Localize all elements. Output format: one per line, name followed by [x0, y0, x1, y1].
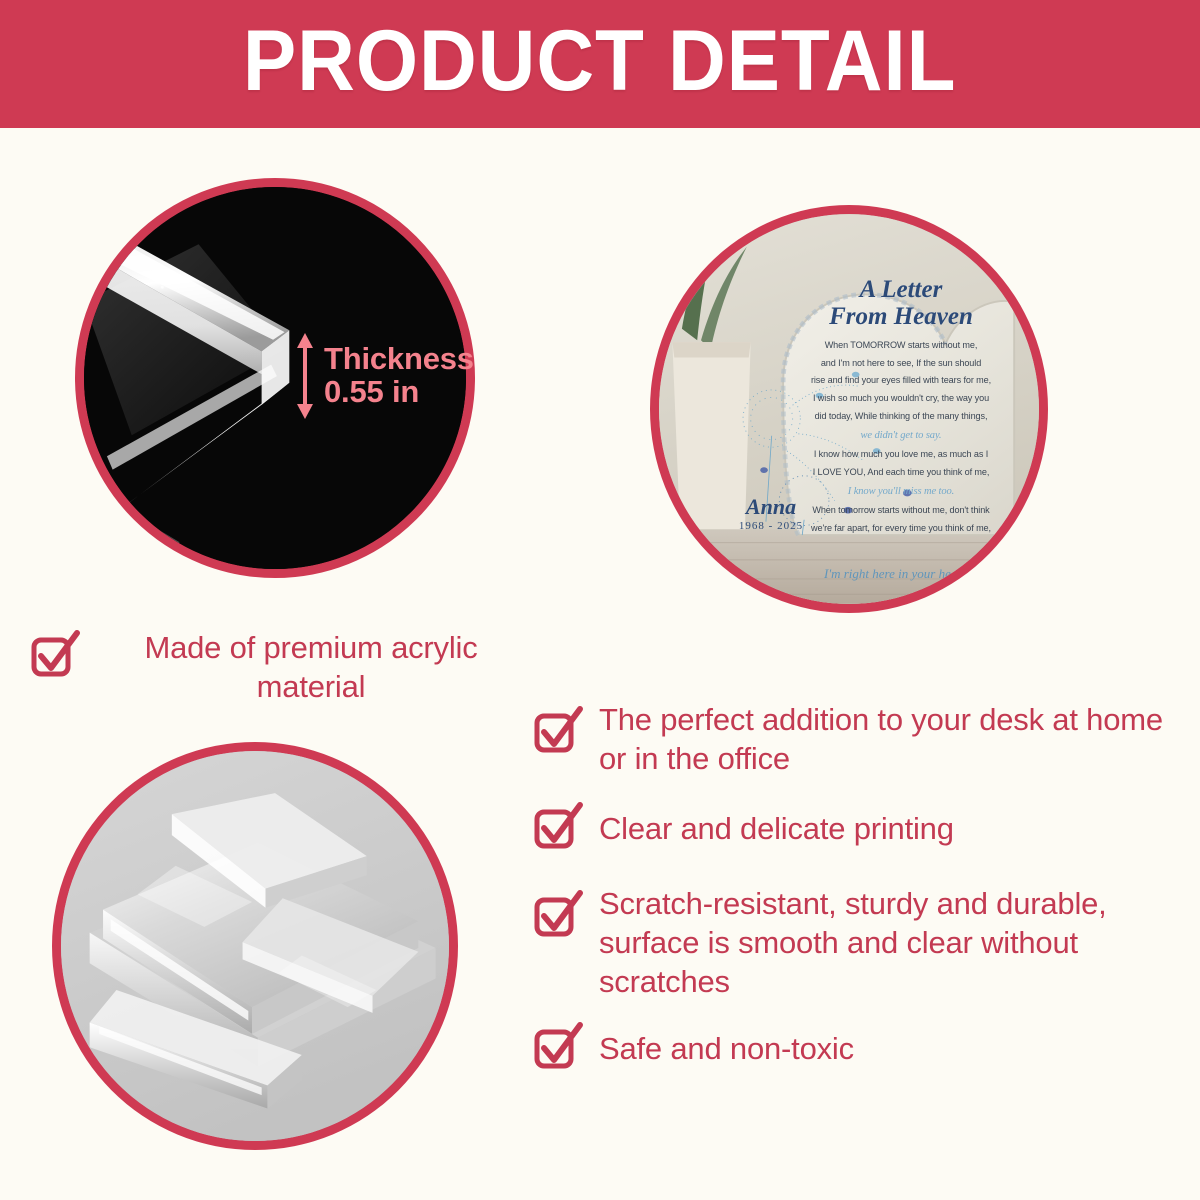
- plaque-scene-illustration: [659, 214, 1039, 604]
- acrylic-blanks-illustration: [61, 751, 449, 1141]
- feature-item-printing: Clear and delicate printing: [533, 800, 1153, 852]
- plaque-personalization: Anna 1968 - 2025: [711, 496, 831, 532]
- feature-item-acrylic: Made of premium acrylic material: [30, 628, 550, 706]
- thickness-label-line1: Thickness: [324, 343, 474, 376]
- feature-item-scratch-resistant: Scratch-resistant, sturdy and durable, s…: [533, 884, 1173, 1001]
- checkmark-icon: [533, 800, 585, 852]
- photo-acrylic-blanks: [52, 742, 458, 1150]
- thickness-label-line2: 0.55 in: [324, 376, 474, 409]
- feature-label: The perfect addition to your desk at hom…: [599, 700, 1193, 778]
- page-title: PRODUCT DETAIL: [243, 18, 957, 110]
- checkmark-icon: [30, 628, 82, 680]
- feature-label: Scratch-resistant, sturdy and durable, s…: [599, 884, 1173, 1001]
- plaque-dates-text: 1968 - 2025: [711, 520, 831, 532]
- feature-item-safe: Safe and non-toxic: [533, 1020, 1033, 1072]
- thickness-annotation: Thickness 0.55 in: [296, 332, 496, 420]
- feature-label: Clear and delicate printing: [599, 800, 954, 848]
- plaque-closing-line: I'm right here in your heart: [755, 566, 1035, 582]
- product-detail-banner: PRODUCT DETAIL: [0, 0, 1200, 128]
- feature-label: Safe and non-toxic: [599, 1020, 854, 1068]
- double-arrow-icon: [296, 332, 314, 420]
- feature-label: Made of premium acrylic material: [96, 628, 526, 706]
- checkmark-icon: [533, 1020, 585, 1072]
- thickness-label: Thickness 0.55 in: [324, 343, 474, 408]
- plaque-name-text: Anna: [711, 496, 831, 518]
- checkmark-icon: [533, 704, 585, 756]
- photo-heart-plaque: A Letter From Heaven When TOMORROW start…: [650, 205, 1048, 613]
- feature-item-desk: The perfect addition to your desk at hom…: [533, 700, 1193, 778]
- checkmark-icon: [533, 888, 585, 940]
